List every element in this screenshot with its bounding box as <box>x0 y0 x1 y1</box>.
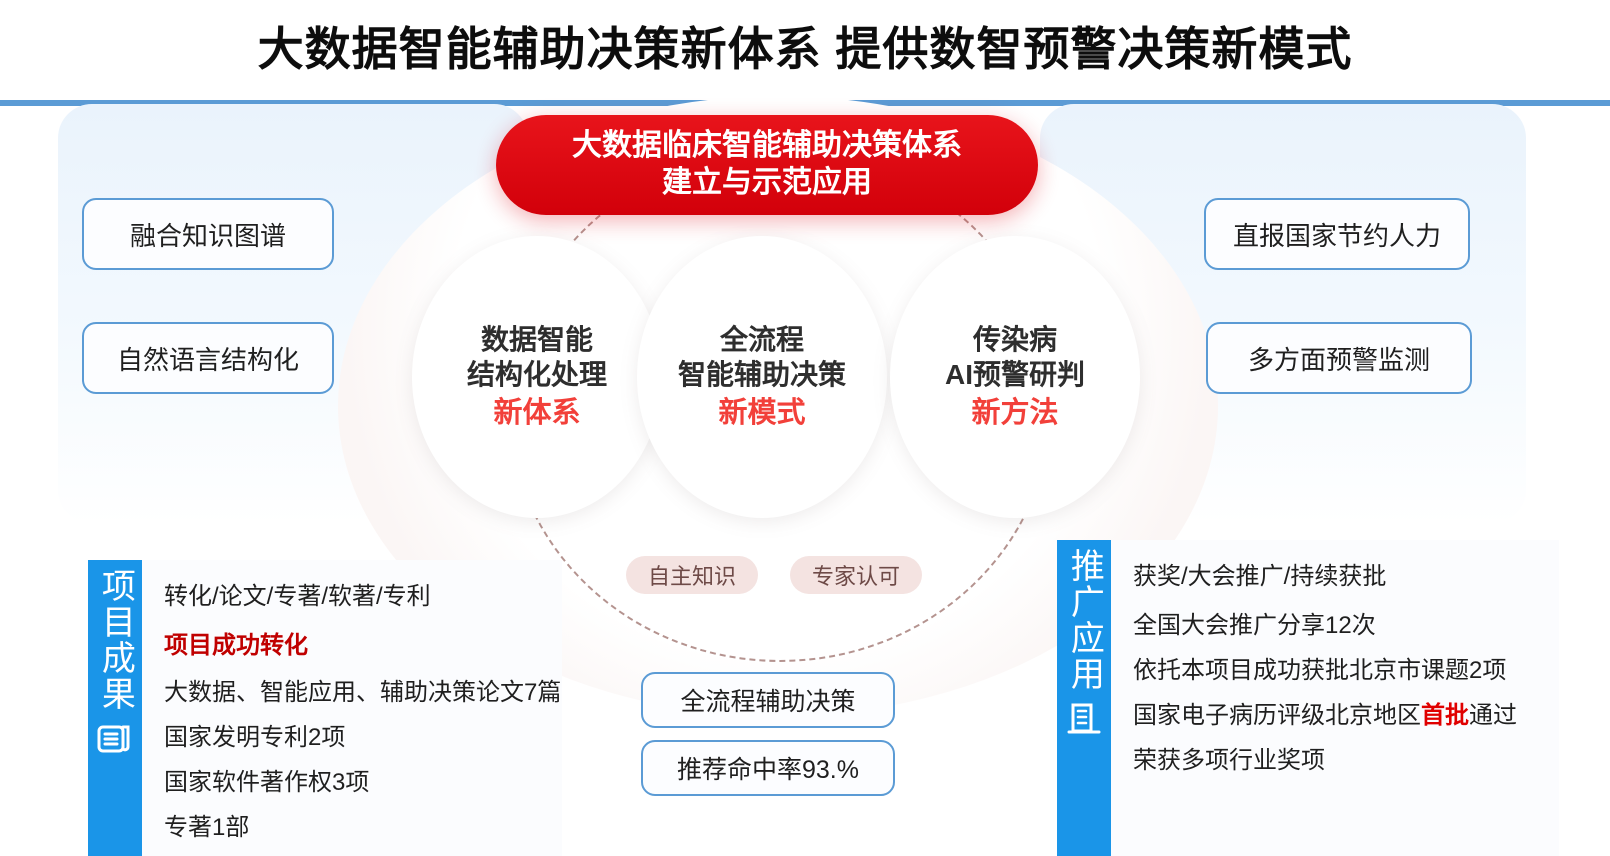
right-box-national-report: 直报国家节约人力 <box>1204 198 1470 270</box>
project-results-lead: 转化/论文/专著/软著/专利 <box>164 576 562 611</box>
left-box-knowledge-graph: 融合知识图谱 <box>82 198 334 270</box>
project-results-line: 国家发明专利2项 <box>164 717 562 752</box>
promotion-line: 荣获多项行业奖项 <box>1133 740 1559 775</box>
bubble-1-line-2: 结构化处理 <box>467 357 607 393</box>
bubble-full-process-decision: 全流程 智能辅助决策 新模式 <box>637 236 887 518</box>
bubble-3-accent: 新方法 <box>971 395 1058 432</box>
page-title: 大数据智能辅助决策新体系 提供数智预警决策新模式 <box>0 22 1610 77</box>
bubble-2-line-1: 全流程 <box>720 322 804 358</box>
slide-root: 大数据智能辅助决策新体系 提供数智预警决策新模式 大数据临床智能辅助决策体系 建… <box>0 0 1610 856</box>
promotion-line-post: 通过 <box>1469 702 1517 729</box>
bubble-data-structuring: 数据智能 结构化处理 新体系 <box>412 236 662 518</box>
bubble-infectious-disease-ai: 传染病 AI预警研判 新方法 <box>890 236 1140 518</box>
center-box-hit-rate: 推荐命中率93.% <box>641 740 895 796</box>
building-document-icon <box>1064 698 1104 738</box>
bubble-3-line-1: 传染病 <box>973 322 1057 358</box>
project-results-block: 项目成果 转化/论文/专著/软著/专利 项目成功转化 大数据、智能应用、辅助决策… <box>88 560 562 856</box>
bubble-2-line-2: 智能辅助决策 <box>678 357 846 393</box>
promotion-lead: 获奖/大会推广/持续获批 <box>1133 556 1559 591</box>
promotion-line-pre: 国家电子病历评级北京地区 <box>1133 702 1421 729</box>
project-title-banner: 大数据临床智能辅助决策体系 建立与示范应用 <box>496 115 1038 215</box>
promotion-line-highlighted: 国家电子病历评级北京地区首批通过 <box>1133 695 1559 730</box>
banner-line-2: 建立与示范应用 <box>662 165 872 202</box>
project-results-highlight: 项目成功转化 <box>164 625 562 660</box>
project-results-line: 专著1部 <box>164 807 562 842</box>
bubble-2-accent: 新模式 <box>718 395 805 432</box>
project-results-line: 国家软件著作权3项 <box>164 762 562 797</box>
project-results-body: 转化/论文/专著/软著/专利 项目成功转化 大数据、智能应用、辅助决策论文7篇 … <box>142 560 562 856</box>
promotion-line: 依托本项目成功获批北京市课题2项 <box>1133 650 1559 685</box>
bubble-1-accent: 新体系 <box>493 395 580 432</box>
promotion-application-sidebar: 推广应用 <box>1057 540 1111 856</box>
project-results-label: 项目成果 <box>97 568 134 712</box>
promotion-application-body: 获奖/大会推广/持续获批 全国大会推广分享12次 依托本项目成功获批北京市课题2… <box>1111 540 1559 856</box>
project-results-sidebar: 项目成果 <box>88 560 142 856</box>
pill-independent-knowledge: 自主知识 <box>626 556 758 594</box>
promotion-line: 全国大会推广分享12次 <box>1133 605 1559 640</box>
right-box-multi-aspect-monitoring: 多方面预警监测 <box>1206 322 1472 394</box>
bubble-1-line-1: 数据智能 <box>481 322 593 358</box>
promotion-application-label: 推广应用 <box>1066 548 1103 692</box>
promotion-application-block: 推广应用 获奖/大会推广/持续获批 全国大会推广分享12次 依托本项目成功获批北… <box>1057 540 1559 856</box>
center-box-full-process-decision: 全流程辅助决策 <box>641 672 895 728</box>
bubble-3-line-2: AI预警研判 <box>945 357 1085 393</box>
promotion-line-mark: 首批 <box>1421 702 1469 729</box>
report-document-icon <box>95 718 135 758</box>
project-results-line: 大数据、智能应用、辅助决策论文7篇 <box>164 672 562 707</box>
banner-line-1: 大数据临床智能辅助决策体系 <box>572 128 962 165</box>
left-box-nlp-structuring: 自然语言结构化 <box>82 322 334 394</box>
pill-expert-approval: 专家认可 <box>790 556 922 594</box>
